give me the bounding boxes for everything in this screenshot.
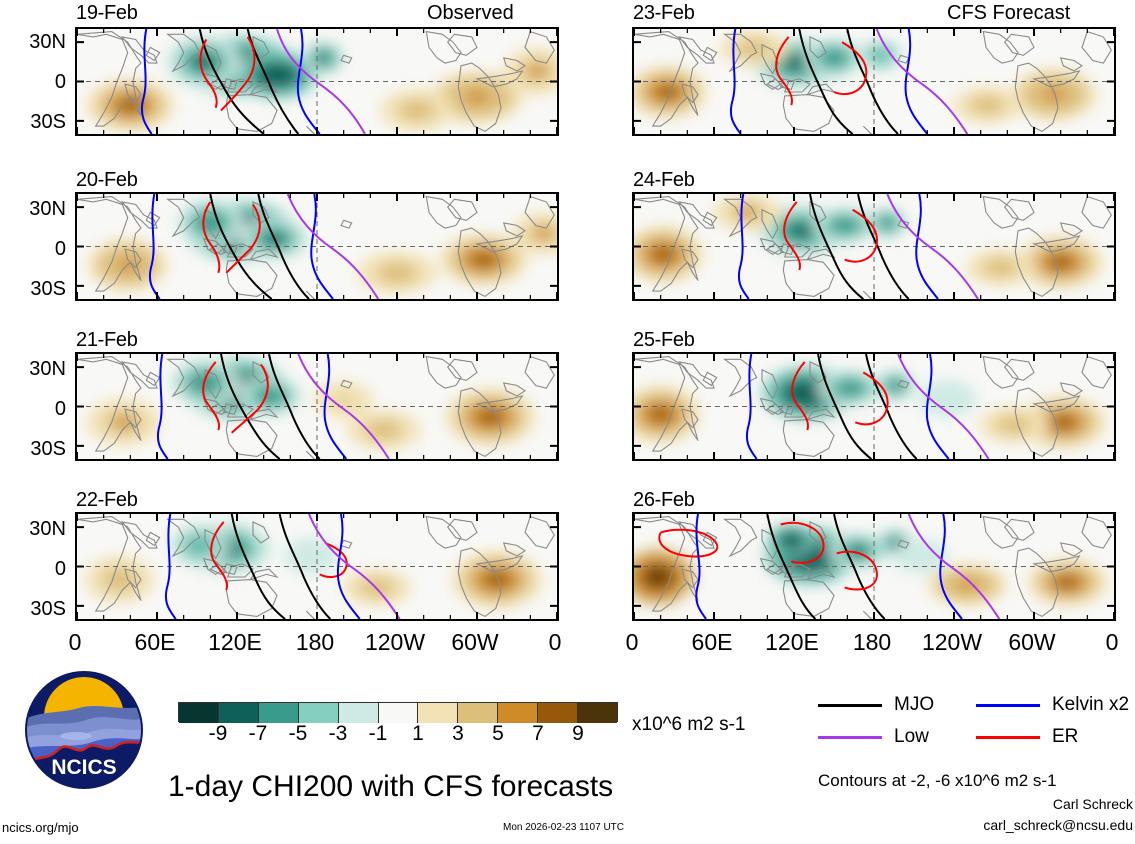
x-tick-120w-xaxis-right: 120W [907,629,997,656]
anomaly-blob-0-1 [791,224,814,237]
anomaly-blob-2-1 [882,219,892,227]
x-tick-120w-xaxis-left: 120W [350,629,440,656]
y-tick-30s-row4: 30S [0,598,66,621]
panel-title-20-feb: 20-Feb [76,169,138,192]
ncics-logo[interactable]: NCICS [24,670,144,790]
legend-swatch-er [976,736,1040,739]
y-tick-30s-row1: 30S [0,111,66,134]
x-tick-60w-xaxis-right: 60W [987,629,1077,656]
anomaly-blob-0-1 [796,387,819,400]
colorbar-cell-7 [458,703,498,723]
colorbar-strip [178,702,618,722]
x-tick-0-xaxis-left: 0 [30,629,120,656]
anomaly-blob-2-1 [875,51,886,59]
anomaly-blob-4-1 [1043,88,1064,101]
y-tick-30n-row2: 30N [0,198,66,221]
anomaly-blob-4-1 [649,570,668,584]
legend: MJO Kelvin x2 Low ER [818,692,1118,758]
panel-title-25-feb: 25-Feb [633,329,695,352]
colorbar: -9-7-5-3-113579 [178,702,618,750]
legend-swatch-low [818,736,882,739]
colorbar-tick-9: 9 [553,722,603,746]
anomaly-blob-6-1 [745,44,762,53]
colorbar-cell-8 [498,703,538,723]
y-tick-0-row4: 0 [0,558,66,581]
legend-label-mjo: MJO [894,694,934,716]
map-panel-24-feb[interactable] [632,192,1116,301]
panel-title-19-feb: 19-Feb [76,2,138,25]
panel-title-22-feb: 22-Feb [76,489,138,512]
contour-note: Contours at -2, -6 x10^6 m2 s-1 [818,771,1057,791]
anomaly-blob-5-1 [992,263,1009,272]
logo-text: NCICS [51,756,116,779]
x-tick-60e-xaxis-right: 60E [667,629,757,656]
legend-label-low: Low [894,726,929,748]
anomaly-blob-3-1 [318,54,329,63]
panel-title-21-feb: 21-Feb [76,329,138,352]
anomaly-blob-4-1 [1050,256,1071,269]
anomaly-blob-2-1 [267,69,287,81]
main-title: 1-day CHI200 with CFS forecasts [168,770,613,804]
anomaly-blob-5-1 [465,91,488,104]
anomaly-blob-1-1 [842,384,858,393]
colorbar-cell-0 [179,703,219,723]
y-tick-0-row1: 0 [0,71,66,94]
map-panel-23-feb[interactable] [632,27,1116,136]
colorbar-unit-label: x10^6 m2 s-1 [632,714,745,736]
anomaly-blob-4-1 [473,253,495,266]
site-url[interactable]: ncics.org/mjo [2,820,79,835]
y-tick-30n-row1: 30N [0,31,66,54]
colorbar-cell-4 [339,703,379,723]
colorbar-cell-6 [418,703,458,723]
panel-title-23-feb: 23-Feb [633,2,695,25]
x-tick-120e-xaxis-left: 120E [190,629,280,656]
anomaly-blob-7-1 [914,552,927,561]
colorbar-ticks: -9-7-5-3-113579 [178,722,618,750]
map-panel-26-feb[interactable] [632,512,1116,621]
y-tick-0-row3: 0 [0,398,66,421]
column-heading-forecast: CFS Forecast [947,2,1070,25]
anomaly-blob-5-1 [1005,420,1022,429]
anomaly-blob-3-1 [657,85,677,98]
x-tick-0-xaxis-right: 0 [587,629,677,656]
author-email[interactable]: carl_schreck@ncsu.edu [875,817,1133,833]
x-tick-120e-xaxis-right: 120E [747,629,837,656]
x-tick-180-xaxis-left: 180 [270,629,360,656]
anomaly-blob-6-1 [536,228,552,239]
map-panel-20-feb[interactable] [75,192,559,301]
legend-label-kelvin: Kelvin x2 [1052,694,1129,716]
legend-swatch-kelvin [976,704,1040,707]
y-tick-0-row2: 0 [0,238,66,261]
colorbar-cell-9 [538,703,578,723]
colorbar-cell-1 [219,703,259,723]
anomaly-blob-6-1 [1057,576,1077,588]
anomaly-blob-1-1 [192,540,207,551]
anomaly-blob-5-1 [979,101,996,110]
timestamp: Mon 2026-02-23 1107 UTC [503,822,624,833]
anomaly-blob-6-1 [408,105,427,116]
anomaly-blob-6-1 [336,395,351,404]
y-tick-30n-row4: 30N [0,518,66,541]
anomaly-blob-5-1 [304,551,317,560]
anomaly-blob-1-1 [785,536,797,544]
colorbar-cell-3 [299,703,339,723]
anomaly-blob-0-1 [785,57,808,70]
colorbar-cell-5 [379,703,419,723]
panel-title-26-feb: 26-Feb [633,489,695,512]
anomaly-blob-1-1 [837,221,853,230]
colorbar-cell-2 [259,703,299,723]
anomaly-blob-7-1 [529,65,546,77]
x-tick-180-xaxis-right: 180 [827,629,917,656]
x-tick-60w-xaxis-left: 60W [430,629,520,656]
legend-label-er: ER [1052,726,1078,748]
x-tick-0-xaxis-right: 0 [1067,629,1135,656]
anomaly-blob-5-1 [387,268,407,279]
y-tick-30s-row3: 30S [0,438,66,461]
colorbar-cell-10 [578,703,617,723]
y-tick-30n-row3: 30N [0,358,66,381]
map-panel-21-feb[interactable] [75,352,559,461]
y-tick-30s-row2: 30S [0,278,66,301]
anomaly-blob-5-1 [374,425,393,435]
anomaly-blob-3-1 [651,407,671,421]
column-heading-observed: Observed [427,2,514,25]
map-panel-22-feb[interactable] [75,512,559,621]
author-name: Carl Schreck [875,796,1133,812]
anomaly-blob-6-1 [940,394,955,403]
anomaly-blob-3-1 [653,247,673,261]
legend-swatch-mjo [818,704,882,707]
map-panel-25-feb[interactable] [632,352,1116,461]
anomaly-blob-1-1 [827,53,842,63]
map-panel-19-feb[interactable] [75,27,559,136]
panel-title-24-feb: 24-Feb [633,169,695,192]
anomaly-blob-3-1 [486,572,509,586]
x-tick-60e-xaxis-left: 60E [110,629,200,656]
